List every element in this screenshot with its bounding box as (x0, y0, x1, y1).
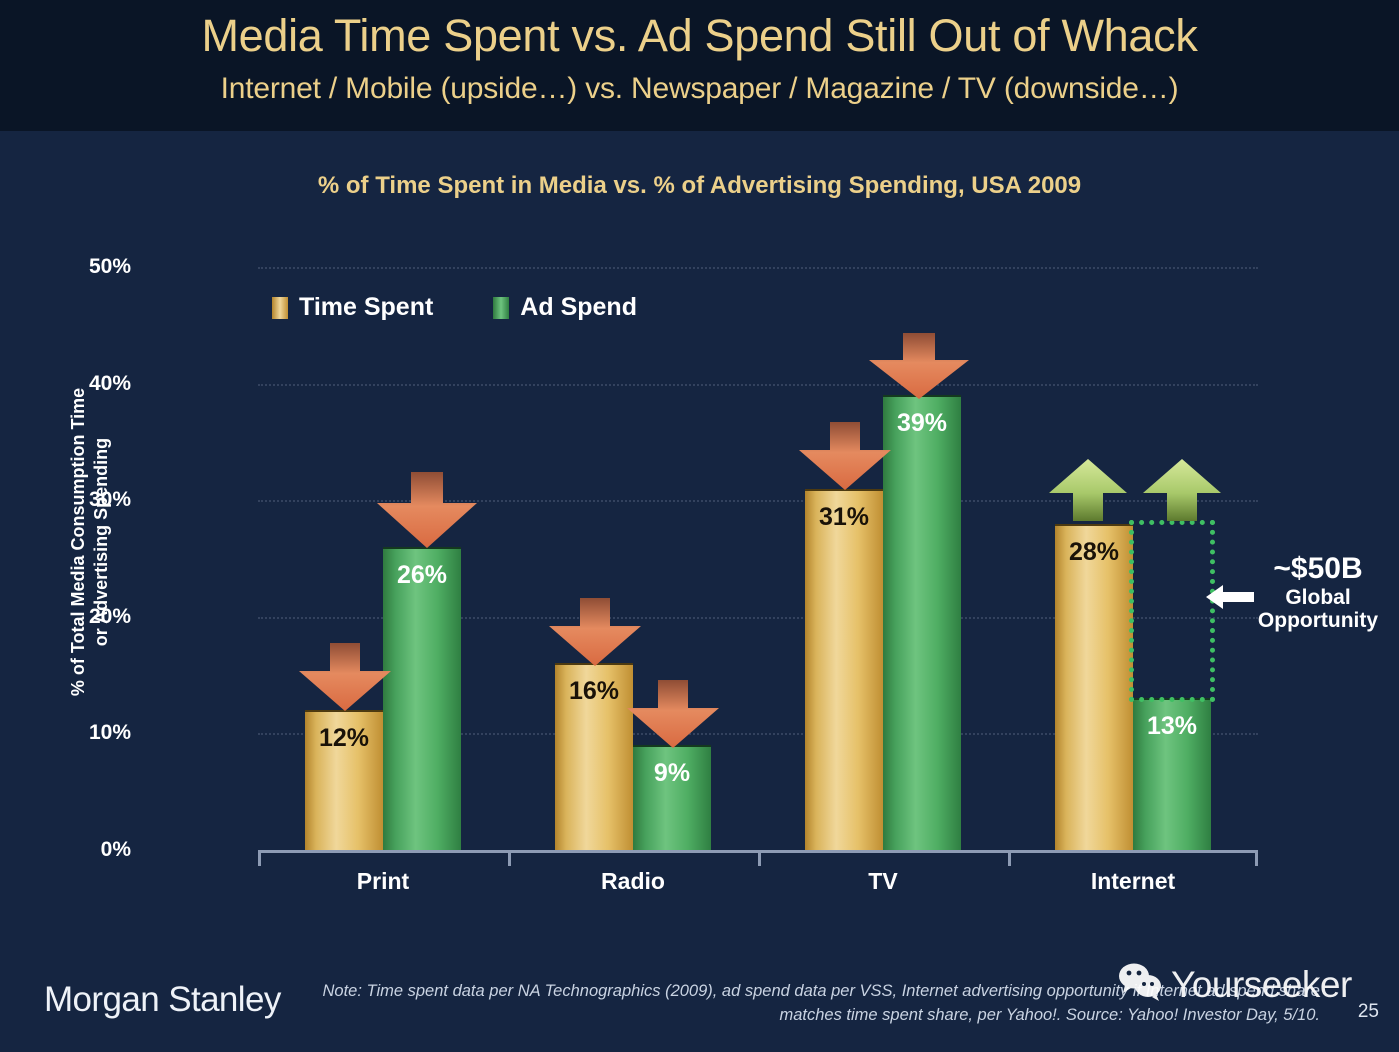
y-axis-title-line-1: % of Total Media Consumption Time (67, 388, 90, 696)
y-tick-label-50: 50% (41, 255, 131, 279)
bar-label-radio-ad-spend: 9% (633, 759, 711, 788)
page-number: 25 (1358, 1001, 1379, 1023)
bar-radio-ad-spend[interactable]: 9% (633, 745, 711, 850)
bar-tv-time-spent[interactable]: 31% (805, 489, 883, 851)
legend-swatch-icon-ad-spend (493, 297, 509, 319)
bar-label-tv-ad-spend: 39% (883, 409, 961, 438)
opportunity-line-1: Global (1238, 586, 1398, 610)
bar-label-radio-time-spent: 16% (555, 677, 633, 706)
bar-radio-time-spent[interactable]: 16% (555, 663, 633, 850)
y-tick-label-0: 0% (41, 838, 131, 862)
y-tick-label-30: 30% (41, 488, 131, 512)
source-note: Note: Time spent data per NA Technograph… (315, 980, 1320, 1028)
opportunity-amount: ~$50B (1238, 552, 1398, 586)
category-label-tv: TV (758, 868, 1008, 895)
y-tick-label-40: 40% (41, 372, 131, 396)
legend-item-time-spent[interactable]: Time Spent (272, 293, 433, 322)
legend-label-time-spent: Time Spent (299, 293, 433, 322)
arrow-down-icon-radio-ad-spend (627, 680, 719, 748)
arrow-down-icon-print-ad-spend (377, 472, 477, 548)
x-axis-tick-1 (508, 850, 511, 866)
bar-label-tv-time-spent: 31% (805, 503, 883, 532)
bar-label-internet-time-spent: 28% (1055, 538, 1133, 567)
chart-title: % of Time Spent in Media vs. % of Advert… (0, 172, 1399, 200)
y-tick-label-10: 10% (41, 721, 131, 745)
bar-internet-ad-spend[interactable]: 13% (1133, 698, 1211, 850)
page-title: Media Time Spent vs. Ad Spend Still Out … (0, 10, 1399, 62)
bar-label-print-time-spent: 12% (305, 724, 383, 753)
plot-area: 12% 26% 16% 9% 31% 39% 28% 13% (258, 267, 1258, 850)
bar-tv-ad-spend[interactable]: 39% (883, 395, 961, 850)
bar-label-internet-ad-spend: 13% (1133, 712, 1211, 741)
chart-legend: Time Spent Ad Spend (272, 293, 637, 322)
bar-internet-time-spent[interactable]: 28% (1055, 524, 1133, 851)
arrow-down-icon-radio-time-spent (549, 598, 641, 666)
bar-label-print-ad-spend: 26% (383, 561, 461, 590)
arrow-down-icon-tv-ad-spend (869, 333, 969, 399)
category-label-radio: Radio (508, 868, 758, 895)
x-axis-endcap-right (1255, 850, 1258, 866)
category-label-internet: Internet (1008, 868, 1258, 895)
bar-print-time-spent[interactable]: 12% (305, 710, 383, 850)
x-axis-endcap-left (258, 850, 261, 866)
page-subtitle: Internet / Mobile (upside…) vs. Newspape… (0, 72, 1399, 106)
opportunity-line-2: Opportunity (1238, 609, 1398, 633)
legend-label-ad-spend: Ad Spend (520, 293, 637, 322)
gridline-40 (258, 384, 1258, 386)
opportunity-annotation: ~$50B Global Opportunity (1238, 552, 1398, 633)
bar-print-ad-spend[interactable]: 26% (383, 547, 461, 850)
arrow-up-icon-internet-ad-spend (1143, 459, 1221, 521)
arrow-down-icon-print-time-spent (299, 643, 391, 711)
y-tick-label-20: 20% (41, 605, 131, 629)
morgan-stanley-logo: Morgan Stanley (44, 980, 281, 1020)
x-axis-tick-2 (758, 850, 761, 866)
opportunity-gap-box (1129, 520, 1215, 702)
arrow-up-icon-internet-time-spent (1049, 459, 1127, 521)
gridline-50 (258, 267, 1258, 269)
arrow-down-icon-tv-time-spent (799, 422, 891, 490)
category-label-print: Print (258, 868, 508, 895)
legend-item-ad-spend[interactable]: Ad Spend (493, 293, 637, 322)
x-axis-tick-3 (1008, 850, 1011, 866)
slide: Media Time Spent vs. Ad Spend Still Out … (0, 0, 1399, 1052)
header-band: Media Time Spent vs. Ad Spend Still Out … (0, 0, 1399, 131)
legend-swatch-icon-time-spent (272, 297, 288, 319)
